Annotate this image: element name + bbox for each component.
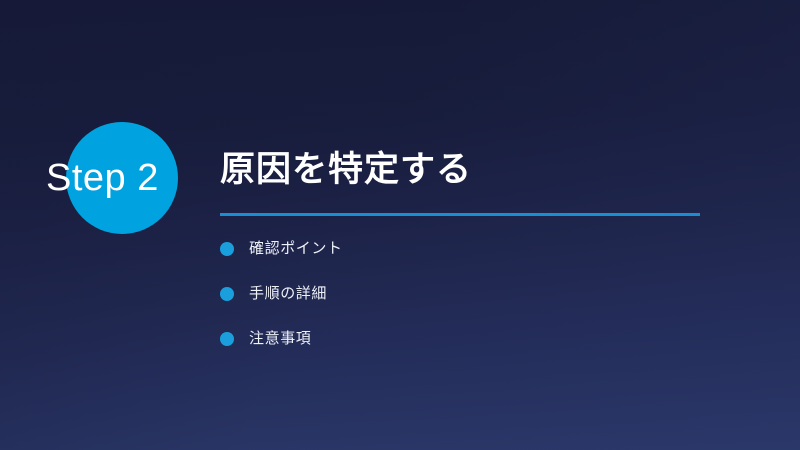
list-item: 注意事項 [220,326,690,351]
bullet-list: 確認ポイント 手順の詳細 注意事項 [220,236,690,371]
bullet-dot-icon [220,242,234,256]
title-divider-rule [220,213,700,216]
bullet-dot-icon [220,332,234,346]
list-item-label: 確認ポイント [249,236,343,261]
list-item: 手順の詳細 [220,281,690,306]
bullet-dot-icon [220,287,234,301]
list-item-label: 注意事項 [249,326,311,351]
step-badge-label: Step 2 [46,154,216,202]
slide-title: 原因を特定する [220,147,472,193]
list-item: 確認ポイント [220,236,690,261]
presentation-slide: Step 2 原因を特定する 確認ポイント 手順の詳細 注意事項 minto.t… [0,0,800,450]
list-item-label: 手順の詳細 [249,281,327,306]
